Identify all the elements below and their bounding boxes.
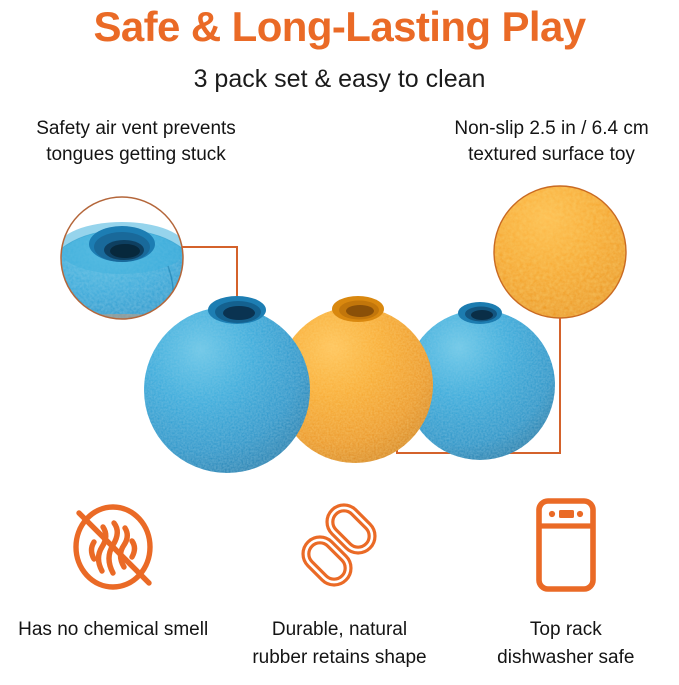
feature-label-dishwasher: Top rack dishwasher safe xyxy=(497,616,634,672)
chain-link-icon xyxy=(287,492,391,598)
dishwasher-icon xyxy=(514,492,618,598)
ball-blue-left xyxy=(144,296,310,473)
inset-blue-air-vent xyxy=(44,194,200,332)
product-feature-graphic: Safe & Long-Lasting Play 3 pack set & ea… xyxy=(0,0,679,685)
feature-item-durable: Durable, natural rubber retains shape xyxy=(226,492,452,685)
feature-item-dishwasher: Top rack dishwasher safe xyxy=(453,492,679,685)
no-chemical-smell-icon xyxy=(61,492,165,598)
callout-label-left: Safety air vent prevents tongues getting… xyxy=(6,116,266,168)
product-illustration xyxy=(0,180,679,480)
page-title: Safe & Long-Lasting Play xyxy=(0,2,679,52)
page-subtitle: 3 pack set & easy to clean xyxy=(0,63,679,95)
feature-row: Has no chemical smell xyxy=(0,492,679,685)
callout-line-left xyxy=(182,247,237,302)
feature-item-no-smell: Has no chemical smell xyxy=(0,492,226,685)
feature-label-durable: Durable, natural rubber retains shape xyxy=(252,616,426,672)
callout-label-right: Non-slip 2.5 in / 6.4 cm textured surfac… xyxy=(424,116,679,168)
feature-label-no-smell: Has no chemical smell xyxy=(18,616,208,644)
